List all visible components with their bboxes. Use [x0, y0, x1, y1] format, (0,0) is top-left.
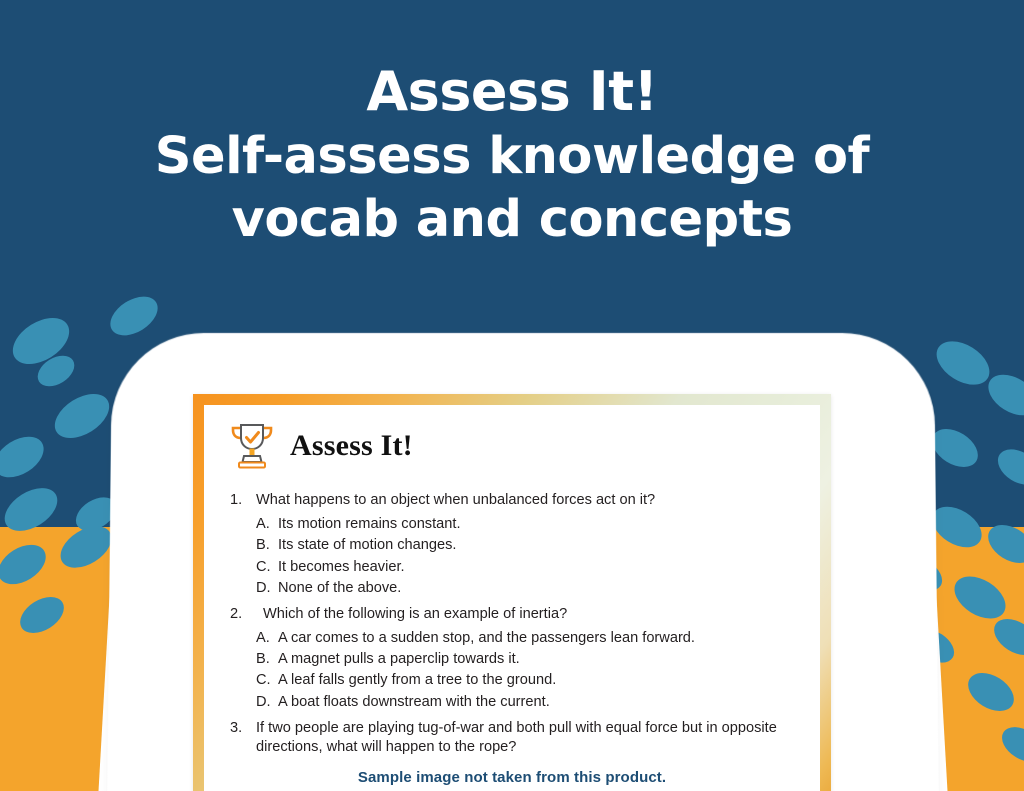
question-number: 2.	[226, 605, 256, 624]
answer-choice-letter: C.	[256, 557, 278, 578]
answer-choice-letter: D.	[256, 692, 278, 713]
banner-headline-primary: Assess It!	[0, 62, 1024, 122]
answer-choice-letter: C.	[256, 670, 278, 691]
trophy-check-icon	[230, 421, 274, 471]
question-row: 1.What happens to an object when unbalan…	[226, 491, 798, 510]
answer-choice[interactable]: A.A car comes to a sudden stop, and the …	[226, 628, 798, 649]
answer-choice-letter: A.	[256, 628, 278, 649]
worksheet-header: Assess It!	[226, 417, 798, 477]
answer-choice-letter: D.	[256, 578, 278, 599]
worksheet-sheet: Assess It! 1.What happens to an object w…	[193, 394, 831, 791]
answer-choice-text: A leaf falls gently from a tree to the g…	[278, 670, 798, 691]
banner-headings: Assess It! Self-assess knowledge of voca…	[0, 62, 1024, 251]
answer-choice-list: A.A car comes to a sudden stop, and the …	[226, 628, 798, 713]
sample-image-disclaimer: Sample image not taken from this product…	[226, 769, 798, 786]
worksheet-question-list: 1.What happens to an object when unbalan…	[226, 491, 798, 757]
question-number: 1.	[226, 491, 256, 510]
answer-choice-list: A.Its motion remains constant.B.Its stat…	[226, 514, 798, 599]
answer-choice-text: Its state of motion changes.	[278, 535, 798, 556]
answer-choice-text: A magnet pulls a paperclip towards it.	[278, 649, 798, 670]
question-prompt: If two people are playing tug-of-war and…	[256, 719, 798, 758]
question-block: 2.Which of the following is an example o…	[226, 605, 798, 713]
answer-choice[interactable]: D.None of the above.	[226, 578, 798, 599]
question-number: 3.	[226, 719, 256, 758]
answer-choice-text: A car comes to a sudden stop, and the pa…	[278, 628, 798, 649]
answer-choice-text: A boat floats downstream with the curren…	[278, 692, 798, 713]
answer-choice[interactable]: B.Its state of motion changes.	[226, 535, 798, 556]
worksheet-page: Assess It! 1.What happens to an object w…	[204, 405, 820, 791]
answer-choice[interactable]: C.A leaf falls gently from a tree to the…	[226, 670, 798, 691]
slide-canvas: Assess It! Self-assess knowledge of voca…	[0, 0, 1024, 791]
answer-choice[interactable]: A.Its motion remains constant.	[226, 514, 798, 535]
question-prompt: What happens to an object when unbalance…	[256, 491, 798, 510]
question-row: 2.Which of the following is an example o…	[226, 605, 798, 624]
answer-choice[interactable]: B.A magnet pulls a paperclip towards it.	[226, 649, 798, 670]
answer-choice[interactable]: D.A boat floats downstream with the curr…	[226, 692, 798, 713]
question-block: 1.What happens to an object when unbalan…	[226, 491, 798, 599]
worksheet-title: Assess It!	[290, 431, 413, 461]
answer-choice-text: It becomes heavier.	[278, 557, 798, 578]
answer-choice[interactable]: C.It becomes heavier.	[226, 557, 798, 578]
answer-choice-letter: B.	[256, 649, 278, 670]
answer-choice-text: Its motion remains constant.	[278, 514, 798, 535]
banner-headline-secondary: Self-assess knowledge of vocab and conce…	[82, 126, 942, 250]
question-block: 3.If two people are playing tug-of-war a…	[226, 719, 798, 758]
question-row: 3.If two people are playing tug-of-war a…	[226, 719, 798, 758]
answer-choice-text: None of the above.	[278, 578, 798, 599]
answer-choice-letter: B.	[256, 535, 278, 556]
answer-choice-letter: A.	[256, 514, 278, 535]
question-prompt: Which of the following is an example of …	[256, 605, 798, 624]
